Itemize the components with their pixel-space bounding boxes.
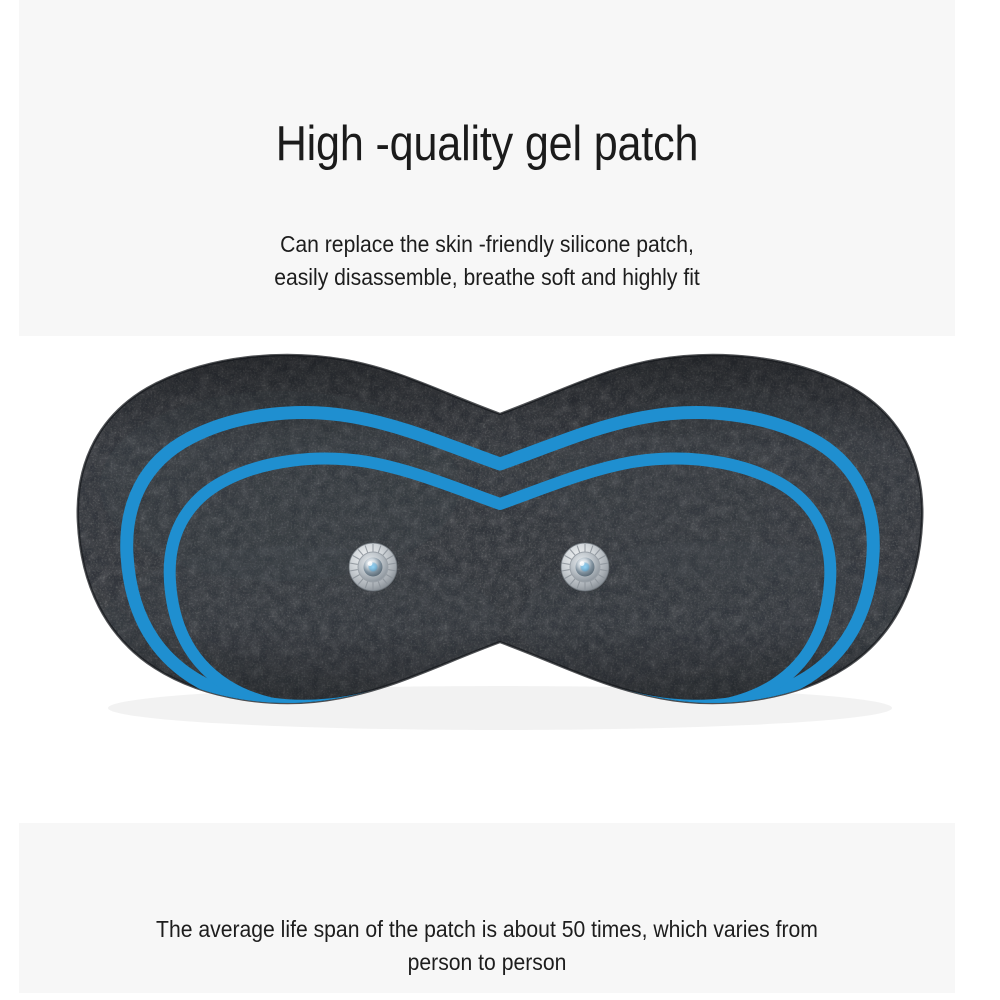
- footer-line-2: person to person: [66, 946, 908, 979]
- gel-patch-illustration: [0, 336, 1000, 823]
- subtitle-line-2: easily disassemble, breathe soft and hig…: [66, 261, 908, 294]
- header-subtitle: Can replace the skin -friendly silicone …: [66, 228, 908, 295]
- header-panel: High -quality gel patch Can replace the …: [19, 0, 955, 336]
- snap-button-right: [560, 542, 610, 592]
- footer-caption: The average life span of the patch is ab…: [66, 913, 908, 980]
- snap-button-left: [348, 542, 398, 592]
- page-title: High -quality gel patch: [75, 118, 899, 172]
- product-detail-page: High -quality gel patch Can replace the …: [0, 0, 1000, 1000]
- footer-line-1: The average life span of the patch is ab…: [66, 913, 908, 946]
- footer-panel: The average life span of the patch is ab…: [19, 823, 955, 993]
- product-image-panel: [0, 336, 1000, 823]
- subtitle-line-1: Can replace the skin -friendly silicone …: [66, 228, 908, 261]
